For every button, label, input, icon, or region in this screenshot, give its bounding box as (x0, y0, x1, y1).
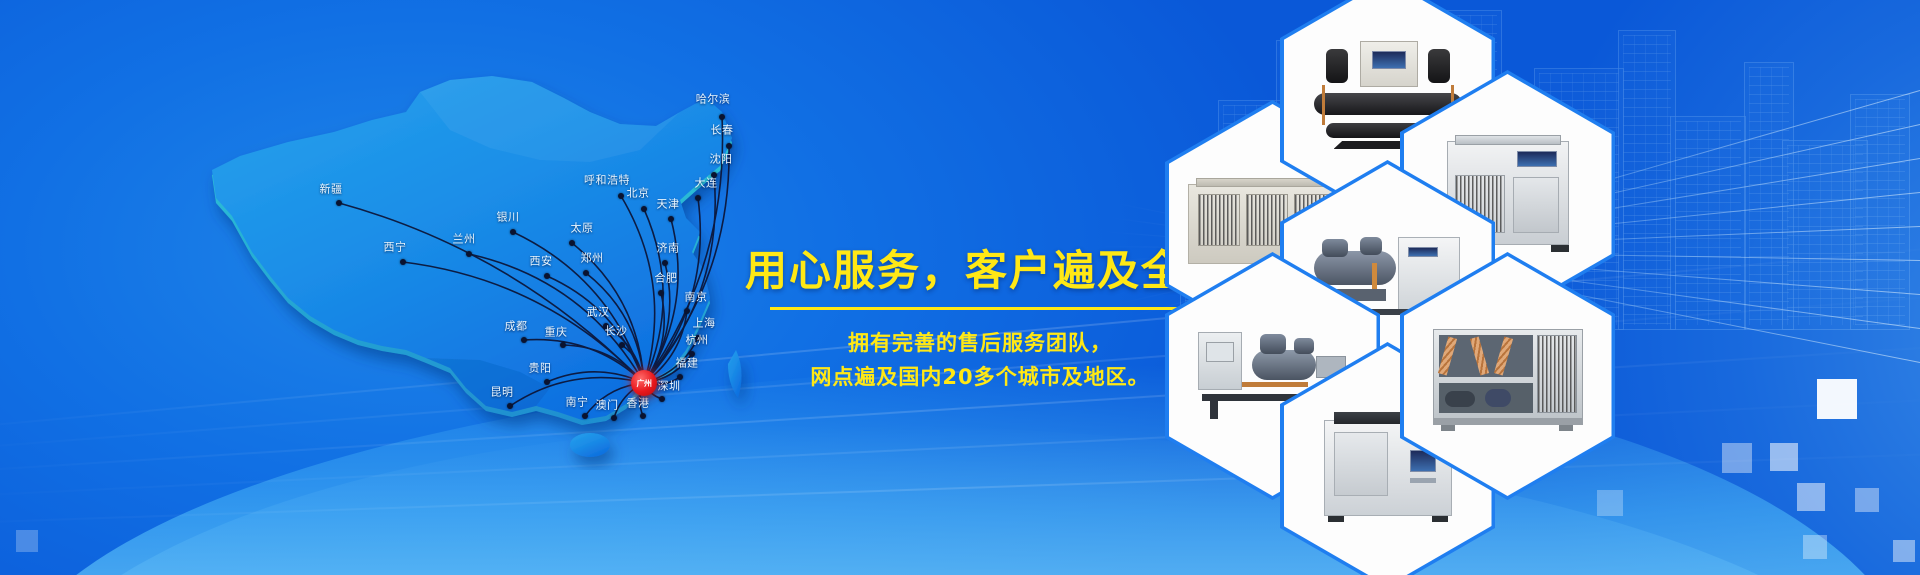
map-city-dot[interactable] (684, 308, 690, 314)
map-city-label[interactable]: 昆明 (491, 387, 514, 398)
machine-screw-air-cooled-chiller (1433, 321, 1583, 431)
decorative-square (1855, 488, 1879, 512)
decorative-square (1797, 483, 1825, 511)
map-city-label[interactable]: 哈尔滨 (696, 94, 731, 105)
map-city-dot[interactable] (641, 206, 647, 212)
map-city-dot[interactable] (640, 413, 646, 419)
map-city-label[interactable]: 重庆 (545, 327, 568, 338)
decorative-square (16, 530, 38, 552)
map-city-dot[interactable] (611, 415, 617, 421)
map-city-label[interactable]: 澳门 (596, 400, 619, 411)
map-city-dot[interactable] (510, 229, 516, 235)
map-city-dot[interactable] (658, 290, 664, 296)
map-city-dot[interactable] (466, 251, 472, 257)
map-city-label[interactable]: 西安 (530, 256, 553, 267)
map-city-dot[interactable] (662, 260, 668, 266)
map-city-label[interactable]: 天津 (657, 199, 680, 210)
map-city-dot[interactable] (544, 379, 550, 385)
map-city-label[interactable]: 太原 (571, 223, 594, 234)
map-city-dot[interactable] (619, 342, 625, 348)
map-city-dot[interactable] (507, 403, 513, 409)
map-city-dot[interactable] (336, 200, 342, 206)
product-hexagon-gallery (1160, 0, 1780, 575)
map-hub-marker-guangzhou[interactable]: 广州 (631, 370, 657, 396)
hub-label: 广州 (637, 378, 652, 389)
decorative-square (1817, 379, 1857, 419)
headline-divider (770, 307, 1190, 310)
map-city-label[interactable]: 贵阳 (529, 363, 552, 374)
decorative-square (1893, 540, 1915, 562)
map-city-label[interactable]: 成都 (505, 321, 528, 332)
map-city-label[interactable]: 南京 (685, 292, 708, 303)
map-city-dot[interactable] (569, 240, 575, 246)
skyline-building (1850, 94, 1910, 330)
map-city-label[interactable]: 郑州 (581, 253, 604, 264)
map-city-label[interactable]: 沈阳 (710, 154, 733, 165)
map-city-label[interactable]: 武汉 (587, 307, 610, 318)
map-city-dot[interactable] (583, 270, 589, 276)
map-city-label[interactable]: 杭州 (686, 335, 709, 346)
map-city-label[interactable]: 长春 (711, 125, 734, 136)
map-city-label[interactable]: 深圳 (658, 381, 681, 392)
map-city-label[interactable]: 银川 (497, 212, 520, 223)
map-city-dot[interactable] (719, 114, 725, 120)
banner-subtitle-line-1: 拥有完善的售后服务团队， (745, 326, 1215, 360)
banner-headline: 用心服务，客户遍及全国 (745, 248, 1215, 293)
map-city-label[interactable]: 新疆 (320, 184, 343, 195)
map-city-label[interactable]: 大连 (695, 178, 718, 189)
map-city-label[interactable]: 福建 (676, 358, 699, 369)
map-city-dot[interactable] (618, 193, 624, 199)
banner-subtitle-line-2: 网点遍及国内20多个城市及地区。 (745, 360, 1215, 394)
map-city-dot[interactable] (400, 259, 406, 265)
map-city-dot[interactable] (726, 143, 732, 149)
banner-copy: 用心服务，客户遍及全国 拥有完善的售后服务团队， 网点遍及国内20多个城市及地区… (745, 248, 1215, 394)
map-city-label[interactable]: 北京 (627, 188, 650, 199)
map-city-dot[interactable] (695, 195, 701, 201)
map-city-dot[interactable] (582, 413, 588, 419)
map-city-dot[interactable] (544, 273, 550, 279)
map-city-label[interactable]: 合肥 (655, 273, 678, 284)
map-city-dot[interactable] (659, 396, 665, 402)
map-city-label[interactable]: 香港 (627, 398, 650, 409)
map-city-dot[interactable] (560, 342, 566, 348)
map-city-label[interactable]: 西宁 (384, 242, 407, 253)
map-city-label[interactable]: 上海 (693, 318, 716, 329)
map-city-dot[interactable] (668, 216, 674, 222)
decorative-square (1803, 535, 1827, 559)
map-city-label[interactable]: 济南 (657, 243, 680, 254)
china-service-map: 哈尔滨长春沈阳大连北京天津呼和浩特新疆银川太原兰州西宁西安郑州济南合肥南京上海杭… (120, 20, 760, 470)
map-city-label[interactable]: 长沙 (605, 326, 628, 337)
map-city-dot[interactable] (521, 337, 527, 343)
map-city-label[interactable]: 南宁 (566, 397, 589, 408)
promo-banner: 哈尔滨长春沈阳大连北京天津呼和浩特新疆银川太原兰州西宁西安郑州济南合肥南京上海杭… (0, 0, 1920, 575)
map-city-label[interactable]: 兰州 (453, 234, 476, 245)
map-city-label[interactable]: 呼和浩特 (584, 175, 630, 186)
